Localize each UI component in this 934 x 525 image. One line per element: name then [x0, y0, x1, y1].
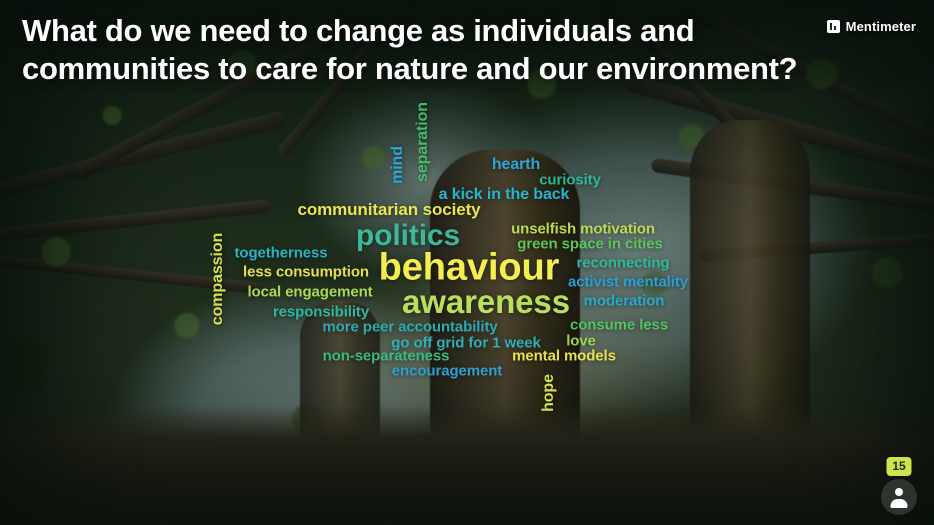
- word-cloud-term: mind: [389, 146, 407, 184]
- word-cloud-term: encouragement: [392, 363, 502, 380]
- word-cloud-term: awareness: [402, 283, 570, 321]
- word-cloud-term: consume less: [570, 317, 668, 334]
- person-icon-body: [891, 499, 908, 508]
- participant-counter[interactable]: 15: [878, 457, 920, 515]
- word-cloud-term: separation: [414, 102, 432, 182]
- word-cloud-term: moderation: [584, 293, 665, 310]
- word-cloud-term: hope: [540, 374, 558, 412]
- word-cloud-term: hearth: [492, 156, 540, 174]
- word-cloud-slide: What do we need to change as individuals…: [0, 0, 934, 525]
- participant-count-badge: 15: [887, 457, 912, 476]
- word-cloud: behaviourawarenesspoliticscommunitarian …: [0, 0, 934, 525]
- word-cloud-term: togetherness: [235, 245, 328, 262]
- word-cloud-term: activist mentality: [568, 274, 688, 291]
- word-cloud-term: local engagement: [247, 284, 372, 301]
- word-cloud-term: green space in cities: [517, 236, 662, 253]
- person-icon-head: [895, 488, 903, 496]
- word-cloud-term: curiosity: [539, 172, 601, 189]
- word-cloud-term: politics: [356, 219, 460, 253]
- word-cloud-term: more peer accountability: [322, 319, 497, 336]
- word-cloud-term: reconnecting: [577, 255, 670, 272]
- word-cloud-term: compassion: [209, 233, 227, 325]
- word-cloud-term: a kick in the back: [439, 186, 570, 204]
- person-icon: [890, 488, 908, 508]
- word-cloud-term: less consumption: [243, 264, 369, 281]
